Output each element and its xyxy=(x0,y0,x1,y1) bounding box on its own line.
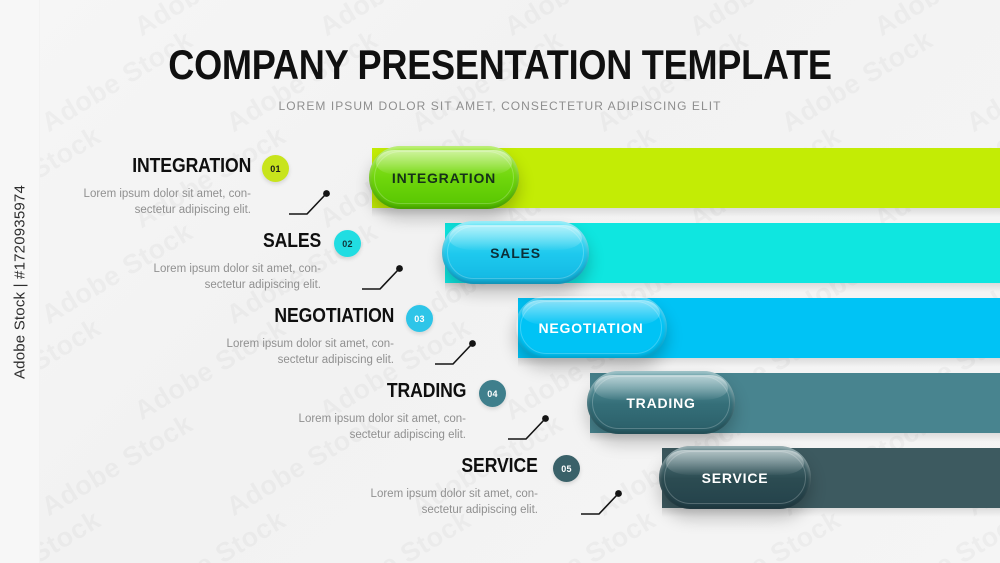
step-body-text: Lorem ipsum dolor sit amet, con-sectetur… xyxy=(51,186,251,218)
process-pill-sales[interactable]: SALES xyxy=(442,221,589,284)
process-pill-integration[interactable]: INTEGRATION xyxy=(369,146,519,209)
connector-endpoint-dot xyxy=(469,340,476,347)
step-heading-text: SERVICE xyxy=(462,456,538,477)
process-pill-service[interactable]: SERVICE xyxy=(659,446,811,509)
connector-endpoint-dot xyxy=(615,490,622,497)
step-text-integration: INTEGRATIONLorem ipsum dolor sit amet, c… xyxy=(51,156,251,218)
step-body-text: Lorem ipsum dolor sit amet, con-sectetur… xyxy=(194,336,394,368)
connector-line-04 xyxy=(508,413,554,443)
step-number-badge-05[interactable]: 05 xyxy=(553,455,580,482)
watermark-text: Adobe Stock xyxy=(36,408,198,522)
connector-endpoint-dot xyxy=(396,265,403,272)
connector-path xyxy=(508,420,544,439)
page-subtitle: LOREM IPSUM DOLOR SIT AMET, CONSECTETUR … xyxy=(0,99,1000,113)
step-text-trading: TRADINGLorem ipsum dolor sit amet, con-s… xyxy=(266,381,466,443)
step-text-sales: SALESLorem ipsum dolor sit amet, con-sec… xyxy=(121,231,321,293)
step-heading: INTEGRATION xyxy=(51,156,251,177)
connector-endpoint-dot xyxy=(323,190,330,197)
stock-credit-label: Adobe Stock | #1720935974 xyxy=(11,184,28,378)
step-number-badge-03[interactable]: 03 xyxy=(406,305,433,332)
step-heading: TRADING xyxy=(266,381,466,402)
connector-path xyxy=(435,345,471,364)
step-number-badge-01[interactable]: 01 xyxy=(262,155,289,182)
page-title: COMPANY PRESENTATION TEMPLATE xyxy=(70,44,930,86)
stock-credit-strip: Adobe Stock | #1720935974 xyxy=(0,0,40,563)
connector-line-03 xyxy=(435,338,481,368)
watermark-text: Adobe Stock xyxy=(129,504,291,563)
step-heading-text: INTEGRATION xyxy=(132,156,251,177)
connector-path xyxy=(362,270,398,289)
step-heading-text: SALES xyxy=(263,231,321,252)
pill-label: SALES xyxy=(490,245,541,261)
step-body-text: Lorem ipsum dolor sit amet, con-sectetur… xyxy=(121,261,321,293)
step-body-text: Lorem ipsum dolor sit amet, con-sectetur… xyxy=(338,486,538,518)
step-heading: SERVICE xyxy=(338,456,538,477)
step-text-service: SERVICELorem ipsum dolor sit amet, con-s… xyxy=(338,456,538,518)
process-pill-negotiation[interactable]: NEGOTIATION xyxy=(515,296,667,359)
connector-line-05 xyxy=(581,488,627,518)
step-text-negotiation: NEGOTIATIONLorem ipsum dolor sit amet, c… xyxy=(194,306,394,368)
connector-line-01 xyxy=(289,188,335,218)
step-body-text: Lorem ipsum dolor sit amet, con-sectetur… xyxy=(266,411,466,443)
header-block: COMPANY PRESENTATION TEMPLATE LOREM IPSU… xyxy=(0,0,1000,113)
pill-label: SERVICE xyxy=(702,470,769,486)
connector-line-02 xyxy=(362,263,408,293)
pill-label: TRADING xyxy=(626,395,695,411)
pill-label: INTEGRATION xyxy=(392,170,496,186)
pill-label: NEGOTIATION xyxy=(539,320,644,336)
step-heading-text: NEGOTIATION xyxy=(274,306,394,327)
step-heading: NEGOTIATION xyxy=(194,306,394,327)
connector-endpoint-dot xyxy=(542,415,549,422)
step-heading: SALES xyxy=(121,231,321,252)
process-pill-trading[interactable]: TRADING xyxy=(587,371,735,434)
infographic-canvas: Adobe StockAdobe StockAdobe StockAdobe S… xyxy=(0,0,1000,563)
step-heading-text: TRADING xyxy=(386,381,466,402)
connector-path xyxy=(581,495,617,514)
step-number-badge-04[interactable]: 04 xyxy=(479,380,506,407)
connector-path xyxy=(289,195,325,214)
step-number-badge-02[interactable]: 02 xyxy=(334,230,361,257)
